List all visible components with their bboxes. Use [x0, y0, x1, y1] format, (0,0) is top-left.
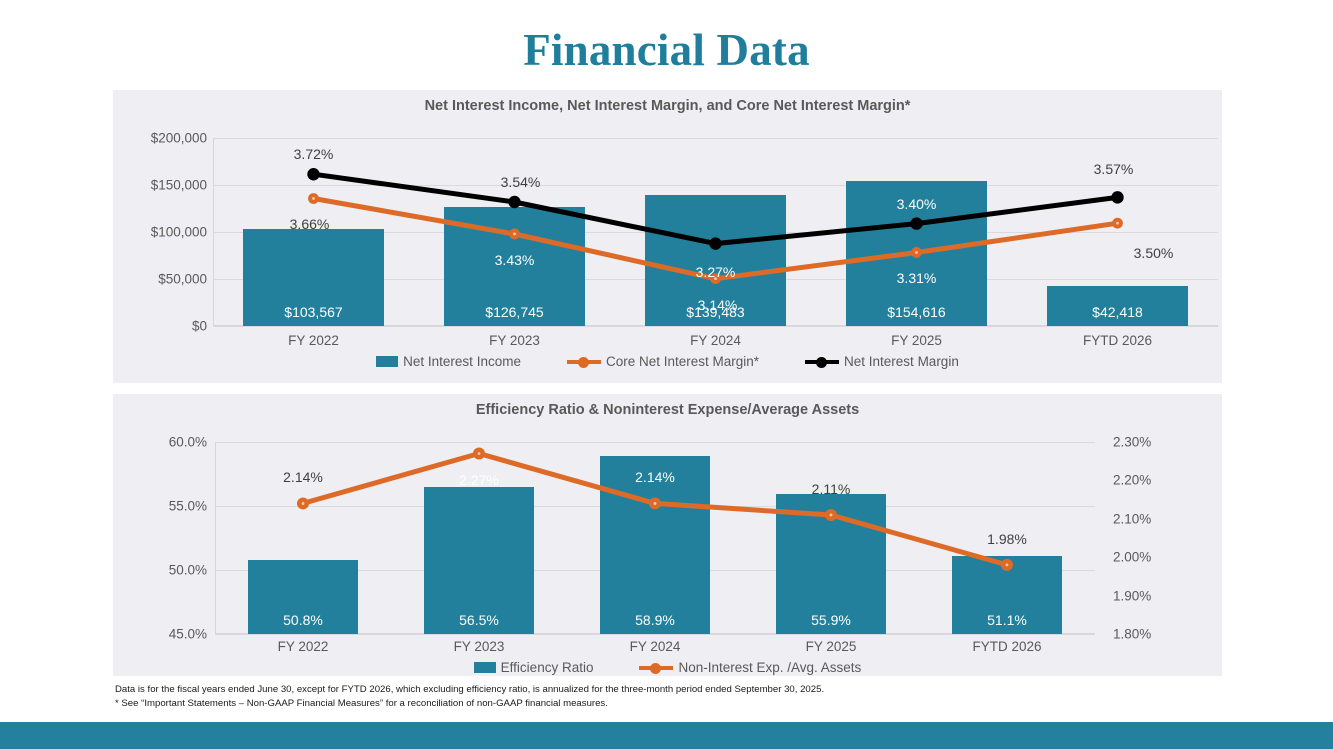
legend-line-marker-icon	[639, 662, 673, 673]
y2-tick-label: 2.30%	[1113, 435, 1151, 450]
chart-1-title: Net Interest Income, Net Interest Margin…	[113, 98, 1222, 114]
data-point-marker-center	[915, 251, 918, 254]
chart-2-x-tick-labels: FY 2022FY 2023FY 2024FY 2025FYTD 2026	[113, 639, 1222, 659]
chart-panel-efficiency-ratio: Efficiency Ratio & Noninterest Expense/A…	[113, 394, 1222, 676]
legend-item-noninterest-expense[interactable]: Non-Interest Exp. /Avg. Assets	[639, 660, 861, 675]
data-point-label: 2.11%	[812, 481, 851, 497]
data-point-marker-center	[654, 502, 657, 505]
y-tick-label: 50.0%	[169, 563, 207, 578]
data-point-marker[interactable]	[508, 196, 520, 208]
y-tick-label: $200,000	[151, 131, 207, 146]
data-point-label: 2.14%	[283, 469, 323, 485]
legend-label: Core Net Interest Margin*	[606, 354, 759, 369]
legend-swatch-icon	[376, 356, 398, 367]
data-point-label: 3.40%	[897, 196, 937, 212]
data-point-marker-center	[478, 452, 481, 455]
line-series-net-interest-margin[interactable]	[314, 174, 1118, 243]
y2-tick-label: 2.10%	[1113, 511, 1151, 526]
legend-label: Efficiency Ratio	[501, 660, 594, 675]
data-point-marker-center	[302, 502, 305, 505]
data-point-label: 3.43%	[495, 252, 535, 268]
data-point-marker[interactable]	[1111, 191, 1123, 203]
legend-label: Net Interest Income	[403, 354, 521, 369]
data-point-label: 1.98%	[987, 531, 1027, 547]
x-tick-label: FY 2025	[891, 333, 942, 348]
legend-line-marker-icon	[805, 356, 839, 367]
legend-line-marker-icon	[567, 356, 601, 367]
bottom-accent-band	[0, 722, 1333, 749]
y-tick-label: 55.0%	[169, 499, 207, 514]
chart-panel-net-interest-income: Net Interest Income, Net Interest Margin…	[113, 90, 1222, 383]
chart-1-y-axis: $0$50,000$100,000$150,000$200,000	[123, 138, 207, 326]
gridline	[215, 634, 1095, 635]
x-tick-label: FYTD 2026	[1083, 333, 1152, 348]
y-tick-label: $100,000	[151, 225, 207, 240]
x-tick-label: FY 2023	[454, 639, 505, 654]
chart-2-title: Efficiency Ratio & Noninterest Expense/A…	[113, 402, 1222, 418]
page-title: Financial Data	[0, 24, 1333, 76]
x-tick-label: FY 2024	[630, 639, 681, 654]
data-point-label: 3.31%	[897, 270, 937, 286]
chart-1-legend: Net Interest Income Core Net Interest Ma…	[113, 354, 1222, 369]
legend-item-net-interest-income[interactable]: Net Interest Income	[376, 354, 521, 369]
footnote-data-period: Data is for the fiscal years ended June …	[115, 684, 824, 695]
x-tick-label: FYTD 2026	[972, 639, 1041, 654]
data-point-marker-center	[1006, 563, 1009, 566]
x-tick-label: FY 2023	[489, 333, 540, 348]
y-tick-label: 60.0%	[169, 435, 207, 450]
chart-2-legend: Efficiency Ratio Non-Interest Exp. /Avg.…	[113, 660, 1222, 675]
chart-2-y-axis-left: 45.0%50.0%55.0%60.0%	[121, 442, 207, 634]
data-point-marker[interactable]	[307, 168, 319, 180]
y-tick-label: $0	[192, 319, 207, 334]
slide: Financial Data Net Interest Income, Net …	[0, 0, 1333, 749]
legend-item-net-interest-margin[interactable]: Net Interest Margin	[805, 354, 959, 369]
data-point-marker-center	[513, 233, 516, 236]
y-tick-label: $50,000	[158, 272, 207, 287]
data-point-label: 3.57%	[1094, 161, 1134, 177]
x-tick-label: FY 2022	[288, 333, 339, 348]
data-point-marker[interactable]	[709, 237, 721, 249]
data-point-marker-center	[830, 514, 833, 517]
y2-tick-label: 2.00%	[1113, 550, 1151, 565]
chart-2-y-axis-right: 1.80%1.90%2.00%2.10%2.20%2.30%	[1113, 442, 1213, 634]
y-tick-label: $150,000	[151, 178, 207, 193]
legend-label: Non-Interest Exp. /Avg. Assets	[678, 660, 861, 675]
gridline	[213, 326, 1218, 327]
data-point-marker-center	[1116, 222, 1119, 225]
data-point-label: 2.27%	[459, 472, 499, 488]
y2-tick-label: 2.20%	[1113, 473, 1151, 488]
legend-item-efficiency-ratio[interactable]: Efficiency Ratio	[474, 660, 594, 675]
data-point-label: 3.54%	[501, 174, 541, 190]
x-tick-label: FY 2024	[690, 333, 741, 348]
x-tick-label: FY 2022	[278, 639, 329, 654]
x-tick-label: FY 2025	[806, 639, 857, 654]
data-point-marker-center	[312, 197, 315, 200]
chart-2-plot-area: 50.8%56.5%58.9%55.9%51.1%2.14%2.27%2.14%…	[215, 442, 1095, 634]
data-point-label: 2.14%	[635, 469, 675, 485]
data-point-label: 3.14%	[698, 297, 738, 313]
legend-label: Net Interest Margin	[844, 354, 959, 369]
data-point-marker[interactable]	[910, 217, 922, 229]
data-point-label: 3.50%	[1134, 245, 1174, 261]
legend-item-core-net-interest-margin[interactable]: Core Net Interest Margin*	[567, 354, 759, 369]
data-point-label: 3.72%	[294, 146, 334, 162]
chart-1-plot-area: $103,567$126,745$139,483$154,616$42,4183…	[213, 138, 1218, 326]
data-point-label: 3.66%	[290, 216, 330, 232]
chart-1-x-tick-labels: FY 2022FY 2023FY 2024FY 2025FYTD 2026	[113, 333, 1222, 353]
footnote-non-gaap: * See “Important Statements – Non-GAAP F…	[115, 698, 608, 709]
legend-swatch-icon	[474, 662, 496, 673]
data-point-label: 3.27%	[696, 264, 736, 280]
y2-tick-label: 1.90%	[1113, 588, 1151, 603]
